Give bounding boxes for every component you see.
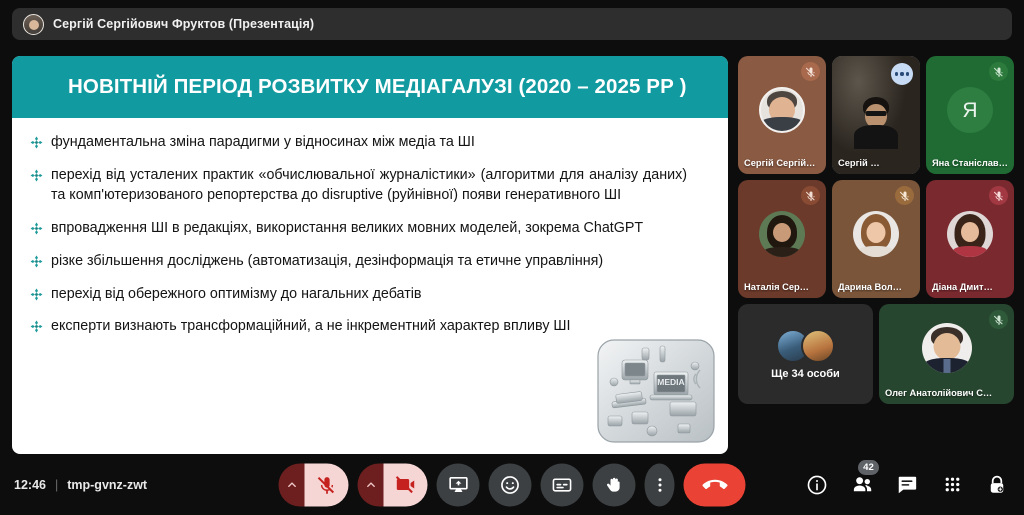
slide-bullet-text: фундаментальна зміна парадигми у відноси… [51, 132, 475, 153]
presentation-slide[interactable]: НОВІТНІЙ ПЕРІОД РОЗВИТКУ МЕДІАГАЛУЗІ (20… [12, 56, 728, 454]
present-screen-button[interactable] [437, 463, 480, 506]
participant-tile[interactable]: Олег Анатолійович С… [879, 304, 1014, 404]
avatar-initial: Я [962, 100, 977, 121]
camera-control-group [358, 463, 428, 506]
more-options-button[interactable] [645, 463, 675, 506]
chat-icon [896, 474, 918, 496]
tile-row: Сергій Сергій… Сергій … Я [738, 56, 1014, 174]
slide-title-band: НОВІТНІЙ ПЕРІОД РОЗВИТКУ МЕДІАГАЛУЗІ (20… [12, 56, 728, 118]
emoji-smiley-icon [500, 474, 521, 495]
call-controls [279, 463, 746, 506]
avatar: Я [947, 87, 993, 133]
presenter-name: Сергій Сергійович Фруктов (Презентація) [53, 17, 314, 31]
mic-options-button[interactable] [279, 463, 305, 506]
more-vertical-icon [650, 475, 669, 494]
participant-name: Сергій … [838, 158, 914, 168]
diamond-cluster-bullet-icon [30, 169, 43, 182]
slide-bullet-text: впровадження ШІ в редакціях, використанн… [51, 218, 643, 239]
meeting-details-button[interactable] [804, 472, 830, 498]
meet-call-window: Сергій Сергійович Фруктов (Презентація) … [0, 0, 1024, 515]
video-off-icon [395, 474, 417, 496]
end-call-icon [702, 472, 727, 497]
more-options-icon[interactable] [891, 63, 913, 85]
participant-name: Діана Дмит… [932, 282, 1008, 292]
presenter-avatar [23, 14, 44, 35]
slide-bullet: перехід від обережного оптимізму до нага… [30, 284, 706, 305]
participant-name: Олег Анатолійович С… [885, 388, 1008, 398]
mic-off-icon [801, 62, 820, 81]
present-screen-icon [448, 475, 468, 495]
slide-bullet-text: експерти визнають трансформаційний, а не… [51, 316, 571, 337]
media-devices-illustration-icon: MEDIA [592, 336, 720, 448]
meeting-code[interactable]: tmp-gvnz-zwt [67, 478, 147, 492]
tile-row: Ще 34 особи [738, 304, 1014, 404]
slide-title: НОВІТНІЙ ПЕРІОД РОЗВИТКУ МЕДІАГАЛУЗІ (20… [68, 75, 687, 99]
participant-tile[interactable]: Наталія Сер… [738, 180, 826, 298]
meeting-meta: 12:46 | tmp-gvnz-zwt [14, 478, 147, 492]
mic-off-icon [989, 62, 1008, 81]
slide-bullet-text: перехід від обережного оптимізму до нага… [51, 284, 422, 305]
grid-apps-icon [942, 474, 963, 495]
mic-off-icon [989, 310, 1008, 329]
slide-bullet: перехід від усталених практик «обчислюва… [30, 165, 706, 206]
mic-control-group [279, 463, 349, 506]
chevron-up-icon [364, 478, 377, 491]
meeting-time: 12:46 [14, 478, 46, 492]
avatar [853, 211, 899, 257]
chevron-up-icon [285, 478, 298, 491]
captions-button[interactable] [541, 463, 584, 506]
diamond-cluster-bullet-icon [30, 136, 43, 149]
participant-tile[interactable]: Я Яна Станіслав… [926, 56, 1014, 174]
participants-button[interactable]: 42 [849, 472, 875, 498]
reactions-button[interactable] [489, 463, 532, 506]
diamond-cluster-bullet-icon [30, 288, 43, 301]
people-icon [851, 473, 874, 496]
activities-button[interactable] [939, 472, 965, 498]
meta-separator: | [55, 478, 58, 492]
raise-hand-button[interactable] [593, 463, 636, 506]
camera-options-button[interactable] [358, 463, 384, 506]
slide-bullet: фундаментальна зміна парадигми у відноси… [30, 132, 706, 153]
participant-name: Яна Станіслав… [932, 158, 1008, 168]
slide-bullet: експерти визнають трансформаційний, а не… [30, 316, 706, 337]
diamond-cluster-bullet-icon [30, 320, 43, 333]
mic-off-icon [895, 186, 914, 205]
artwork-media-label: MEDIA [657, 377, 684, 387]
participant-tile[interactable]: Дарина Вол… [832, 180, 920, 298]
mic-off-icon [316, 474, 337, 495]
overflow-label: Ще 34 особи [771, 368, 840, 380]
diamond-cluster-bullet-icon [30, 222, 43, 235]
lock-shield-icon [986, 474, 1008, 496]
slide-bullet: різке збільшення досліджень (автоматизац… [30, 251, 706, 272]
avatar [759, 211, 805, 257]
overflow-participants-tile[interactable]: Ще 34 особи [738, 304, 873, 404]
host-controls-button[interactable] [984, 472, 1010, 498]
participant-name: Сергій Сергій… [744, 158, 820, 168]
chat-button[interactable] [894, 472, 920, 498]
mic-off-icon [801, 186, 820, 205]
participant-tile[interactable]: Сергій … [832, 56, 920, 174]
participant-tiles: Сергій Сергій… Сергій … Я [738, 56, 1014, 410]
participants-count-badge: 42 [858, 460, 879, 475]
captions-icon [552, 474, 573, 495]
leave-call-button[interactable] [684, 463, 746, 506]
video-person [854, 95, 898, 149]
raise-hand-icon [604, 474, 625, 495]
slide-body: фундаментальна зміна парадигми у відноси… [12, 118, 728, 454]
right-toolbar: 42 [804, 472, 1010, 498]
avatar [947, 211, 993, 257]
participant-tile[interactable]: Діана Дмит… [926, 180, 1014, 298]
slide-bullet: впровадження ШІ в редакціях, використанн… [30, 218, 706, 239]
mic-off-icon [989, 186, 1008, 205]
tile-row: Наталія Сер… Дарина [738, 180, 1014, 298]
participant-tile[interactable]: Сергій Сергій… [738, 56, 826, 174]
participant-name: Наталія Сер… [744, 282, 820, 292]
camera-toggle-button[interactable] [384, 463, 428, 506]
slide-bullet-text: перехід від усталених практик «обчислюва… [51, 165, 687, 206]
mic-toggle-button[interactable] [305, 463, 349, 506]
avatar [759, 87, 805, 133]
stacked-avatars-icon [776, 329, 835, 363]
diamond-cluster-bullet-icon [30, 255, 43, 268]
slide-bullet-text: різке збільшення досліджень (автоматизац… [51, 251, 603, 272]
presenter-bar[interactable]: Сергій Сергійович Фруктов (Презентація) [12, 8, 1012, 40]
bottom-toolbar: 12:46 | tmp-gvnz-zwt [0, 454, 1024, 515]
info-icon [806, 474, 828, 496]
participant-name: Дарина Вол… [838, 282, 914, 292]
avatar [922, 323, 972, 373]
